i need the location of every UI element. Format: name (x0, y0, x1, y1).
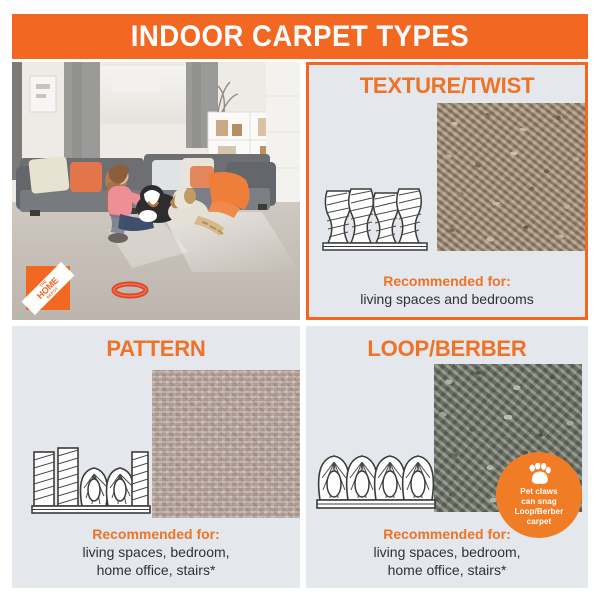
pet-badge-line: can snag (515, 497, 564, 507)
page-title: INDOOR CARPET TYPES (131, 20, 469, 54)
panel-title-loop-berber: LOOP/BERBER (306, 336, 588, 362)
twist-fiber-svg (321, 183, 437, 255)
recommended-line: living spaces and bedrooms (309, 291, 585, 309)
panel-title-texture-twist: TEXTURE/TWIST (309, 73, 585, 99)
pattern-fiber-svg (30, 442, 152, 520)
cut-and-loop-pile-fiber-diagram (30, 442, 152, 520)
texture-twist-carpet-swatch (437, 103, 585, 251)
panel-lifestyle-photo: THE HOME DEPOT (12, 62, 300, 320)
home-depot-logo-band: THE HOME DEPOT (21, 261, 74, 314)
recommended-heading: Recommended for: (12, 526, 300, 544)
recommended-block-texture-twist: Recommended for: living spaces and bedro… (309, 273, 585, 309)
the-home-depot-logo: THE HOME DEPOT (26, 266, 70, 310)
recommended-heading: Recommended for: (306, 526, 588, 544)
recommended-block-pattern: Recommended for: living spaces, bedroom,… (12, 526, 300, 580)
loop-pile-fiber-diagram (316, 436, 436, 516)
panel-loop-berber: LOOP/BERBER (306, 326, 588, 588)
recommended-line: home office, stairs* (306, 562, 588, 580)
loop-fiber-svg (316, 436, 436, 516)
pet-claws-warning-badge: Pet claws can snag Loop/Berber carpet (496, 452, 582, 538)
paw-print-icon (526, 463, 552, 485)
twisted-cut-pile-fiber-diagram (321, 183, 437, 255)
header-banner: INDOOR CARPET TYPES (12, 14, 588, 59)
recommended-line: home office, stairs* (12, 562, 300, 580)
recommended-line: living spaces, bedroom, (12, 544, 300, 562)
pet-badge-text: Pet claws can snag Loop/Berber carpet (515, 487, 564, 527)
recommended-block-loop-berber: Recommended for: living spaces, bedroom,… (306, 526, 588, 580)
recommended-heading: Recommended for: (309, 273, 585, 291)
panel-pattern: PATTERN (12, 326, 300, 588)
indoor-carpet-types-infographic: INDOOR CARPET TYPES (0, 0, 600, 600)
pet-badge-line: Loop/Berber (515, 507, 564, 517)
panel-title-pattern: PATTERN (12, 336, 300, 362)
recommended-line: living spaces, bedroom, (306, 544, 588, 562)
panel-texture-twist: TEXTURE/TWIST R (306, 62, 588, 320)
pattern-carpet-swatch (152, 370, 300, 518)
pet-badge-line: Pet claws (515, 487, 564, 497)
